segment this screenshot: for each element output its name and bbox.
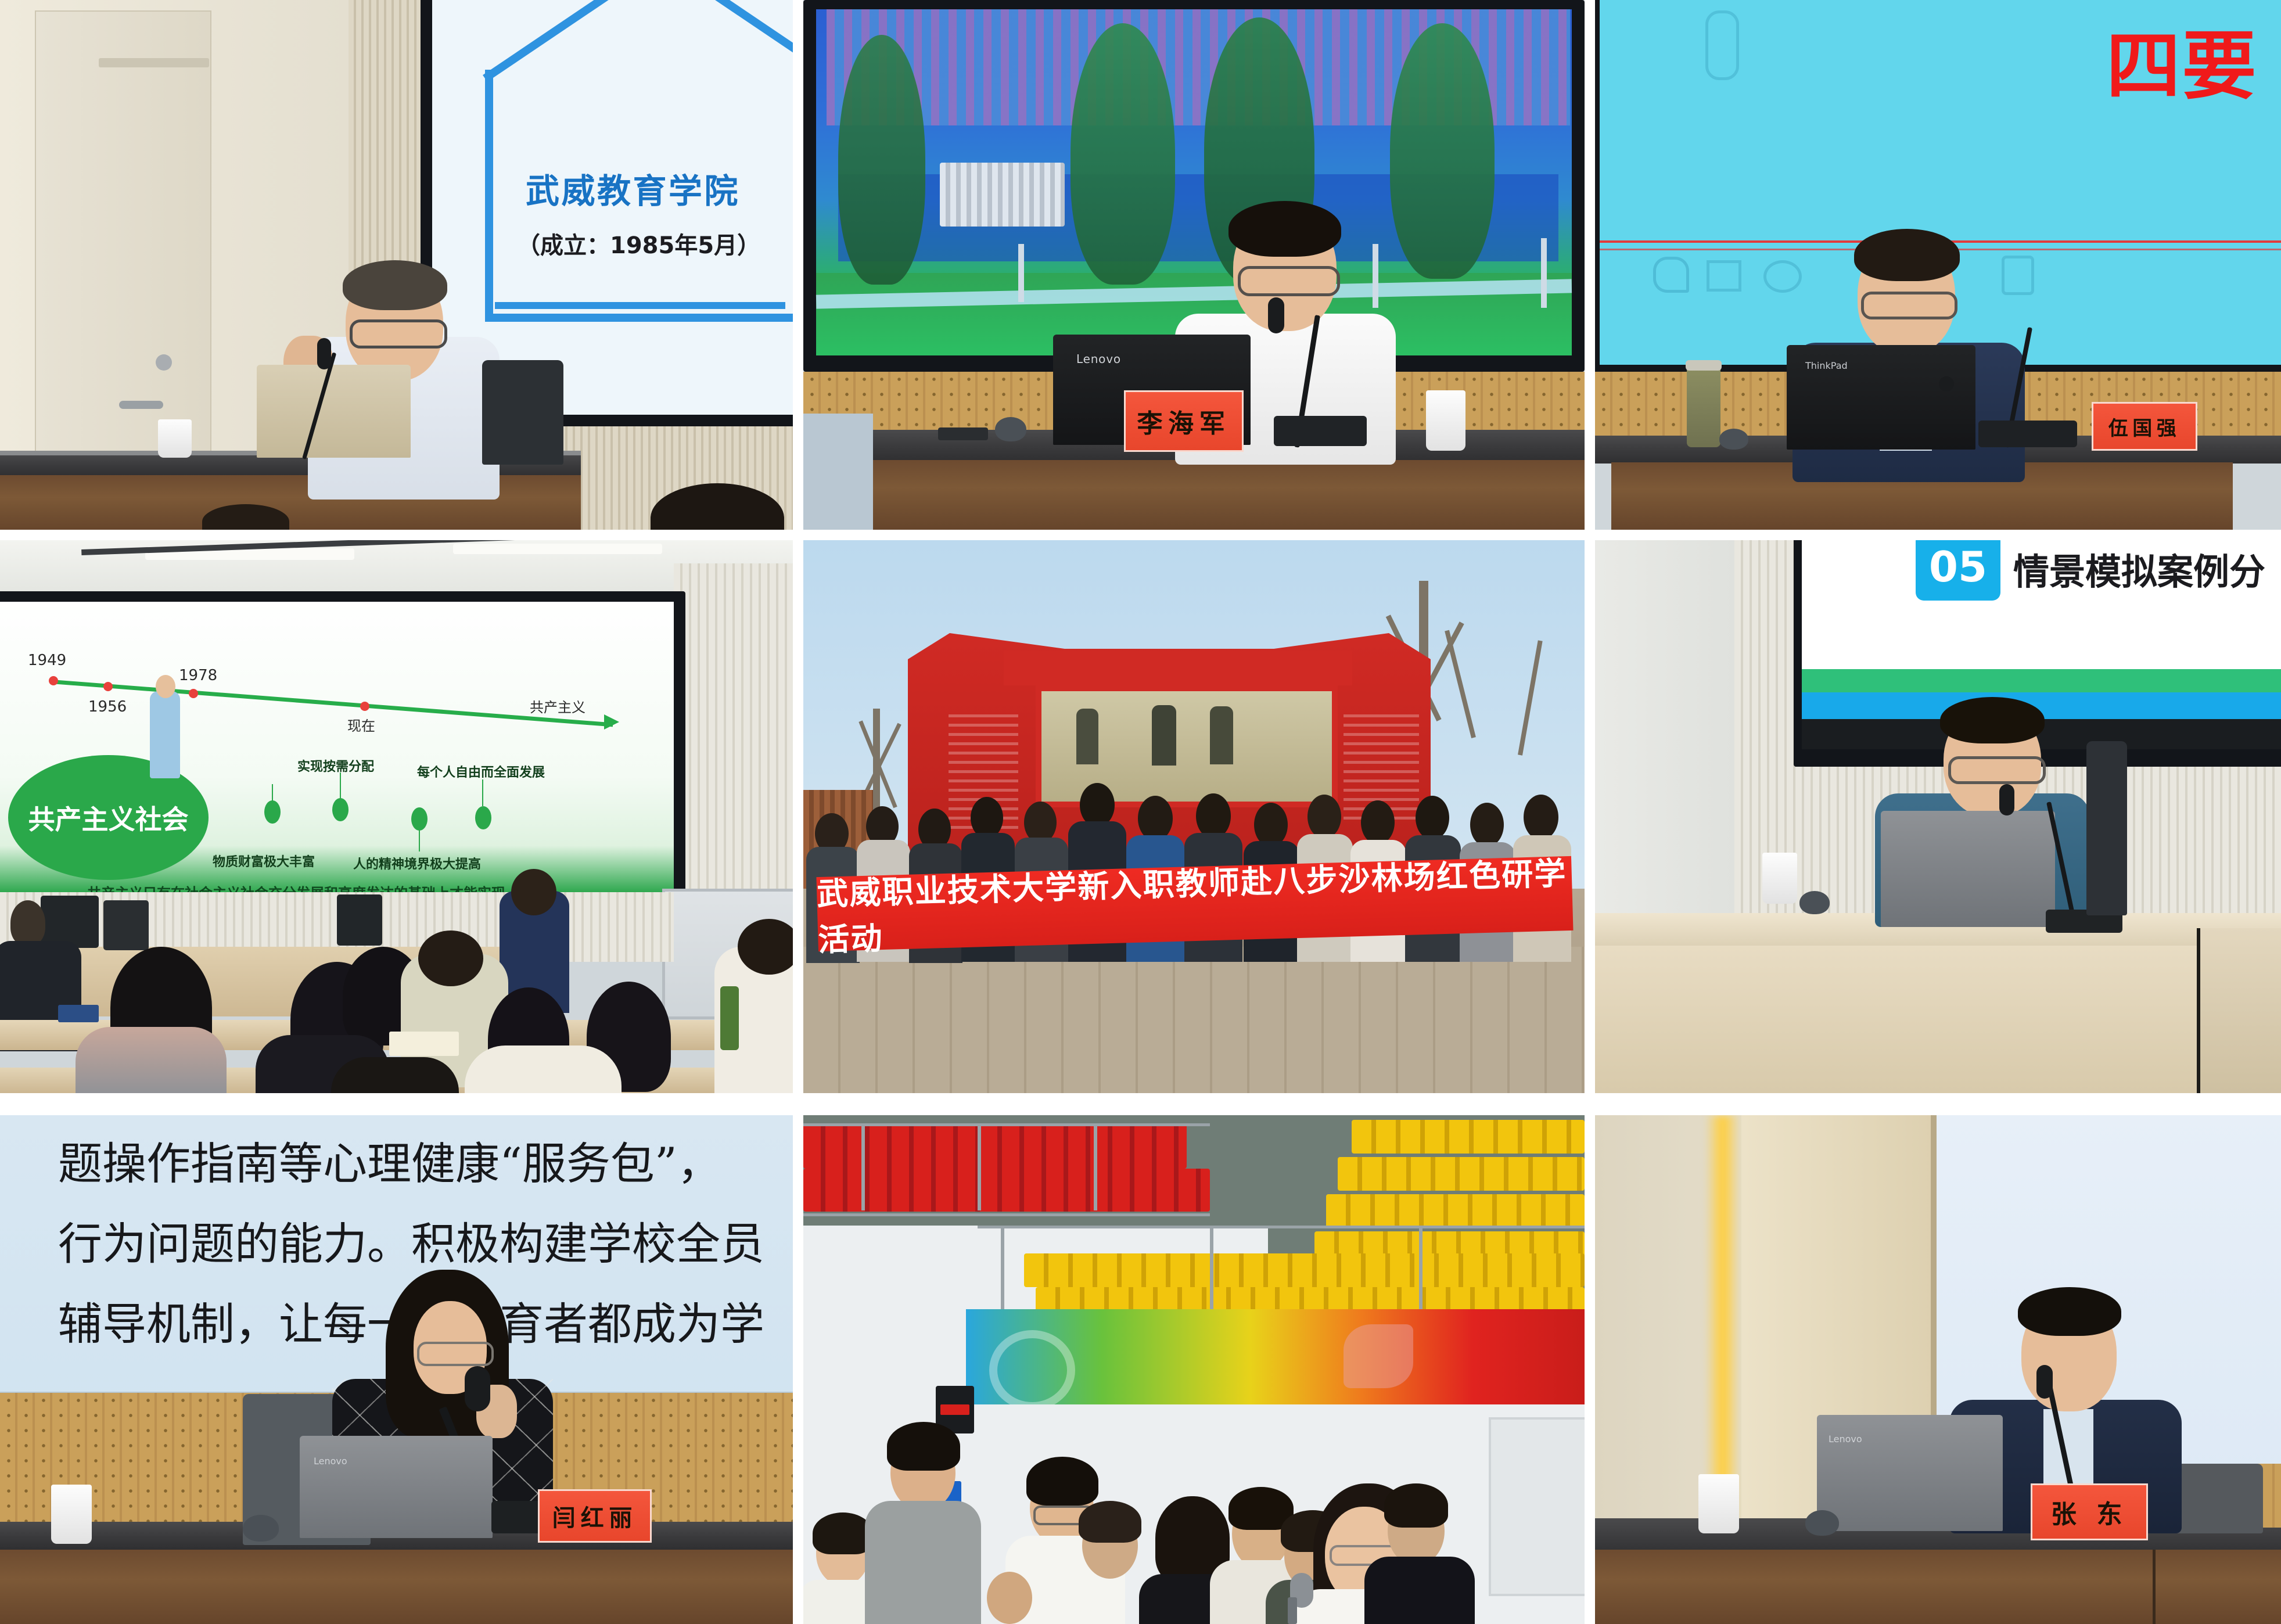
slide-title: 情景模拟案例分 [2013,542,2265,595]
slide-subtitle: （成立：1985年5月） [517,227,760,260]
paper-cup [51,1485,92,1544]
chair [482,360,563,465]
paper-cup [1698,1474,1739,1533]
audience-body [465,1045,622,1093]
notebook [389,1032,459,1056]
rail-post [978,1123,981,1210]
conference-desk-front [0,1550,793,1624]
slide-doodle-1 [1653,257,1689,293]
conference-desk-front [873,460,1585,530]
panel-7-scene: 题操作指南等心理健康“服务包”， 行为问题的能力。积极构建学校全员 辅导机制，让… [0,1115,793,1624]
laptop-brand-label: Lenovo [1829,1433,1862,1445]
bullet-label-3: 物质财富极大丰富 [213,851,315,870]
speaker-glasses [417,1342,494,1366]
person-hair [887,1422,960,1471]
presenter-body [150,691,180,778]
laptop [300,1436,493,1538]
collage-cell-middle-center[interactable]: 武威职业技术大学新入职教师赴八步沙林场红色研学活动 [803,540,1585,1093]
nameplate: 伍国强 [2092,402,2197,451]
microphone-base [1274,416,1367,446]
monument-frame [1004,651,1352,685]
mural-figure-2 [1152,705,1176,766]
led-stone-relief [940,163,1065,227]
person-head [1307,795,1341,839]
audience-head [418,930,483,986]
mouse [1805,1510,1839,1536]
house-base-line [495,302,785,309]
conference-desk-front [1595,1550,2281,1624]
gym-door [1489,1417,1585,1596]
photo-collage: 武威教育学院 （成立：1985年5月） [0,0,2281,1624]
person-head [987,1572,1032,1624]
slide-title: 四要 [2106,6,2258,113]
yellow-seat-row [1326,1194,1585,1228]
slide-doodle-5 [1705,10,1739,80]
nameplate: 李海军 [1124,390,1244,452]
led-tree-1 [838,35,925,285]
phone-on-desk [938,427,988,440]
person-head [1524,795,1558,840]
timeline-label-now: 现在 [347,714,375,735]
lecture-desk-front [1595,946,2199,1093]
speaker-glasses [1948,756,2046,784]
desk-seam [2153,1550,2156,1624]
panel-5-scene: 武威职业技术大学新入职教师赴八步沙林场红色研学活动 [803,540,1585,1093]
timeline-dot-1949 [49,676,58,685]
laptop-brand-label: ThinkPad [1805,360,1848,371]
collage-cell-top-center[interactable]: Lenovo 李海军 [803,0,1585,530]
speaker-glasses [1238,266,1340,296]
led-trunk-3 [1541,238,1547,308]
timeline-dot-1956 [103,682,113,691]
speaker-hair [1854,229,1960,281]
mural-figure-1 [1076,709,1098,764]
dais-monitor-1 [41,896,99,948]
desk-side-strip [803,414,873,530]
nameplate: 张 东 [2031,1483,2148,1540]
presenter-head [156,675,175,698]
person-head [1080,783,1115,827]
microphone-head [317,338,331,369]
laptop-brand-label: Lenovo [314,1456,347,1467]
mouse [995,417,1026,441]
front-attendee-head [10,900,45,946]
event-banner: 武威职业技术大学新入职教师赴八步沙林场红色研学活动 [816,856,1573,951]
pavement-tiles [803,947,1585,1093]
warm-light-strip [1705,1115,1740,1522]
timeline-label-1978: 1978 [179,667,217,684]
paper-cup [158,419,192,458]
nameplate: 闫红丽 [538,1489,652,1543]
water-bottle [720,986,739,1050]
paper-cup [1426,390,1465,451]
standing-attendee-head [511,869,556,915]
speaker-hair [1940,697,2045,743]
bullet-stem-3 [419,826,420,851]
laptop [1817,1415,2003,1531]
dais-monitor-2 [103,900,149,950]
speaker-hair [2018,1287,2121,1336]
microphone-head [1268,297,1284,333]
mural-swirl-motif [989,1330,1075,1410]
collage-cell-middle-left[interactable]: 1949 1956 1978 现在 共产主义 共产主义社会 实现按需分配 每个人… [0,540,793,1093]
laptop-brand-label: Lenovo [1076,352,1121,366]
yellow-seat-row [1352,1120,1585,1154]
scoreboard-digits [940,1404,969,1415]
bullet-stem-2 [340,773,341,799]
person-hair [1384,1483,1448,1528]
rail-post [1419,1226,1423,1318]
audience-body [331,1057,459,1093]
bullet-stem-4 [482,779,483,806]
timeline-dot-now [360,702,369,711]
desk-seam [2197,928,2200,1093]
thermos-bottle [1687,365,1720,447]
slide-text-line-1: 题操作指南等心理健康“服务包”， [58,1128,721,1192]
lecture-desk-side [2199,928,2281,1093]
microphone-head [2036,1365,2053,1399]
rail-post [1001,1226,1004,1318]
timeline-label-1949: 1949 [28,652,66,669]
slide-text-line-2: 行为问题的能力。积极构建学校全员 [58,1208,764,1272]
bullet-label-1: 实现按需分配 [297,756,374,775]
bullet-blob-1 [264,800,281,824]
mouse [243,1515,279,1542]
audience-body [76,1027,227,1093]
ceiling-light-2 [453,544,662,554]
rail-post [1094,1123,1097,1210]
notebook [58,1005,99,1022]
led-trunk-1 [1018,244,1024,302]
microphone-head [1999,784,2014,815]
collage-cell-bottom-left[interactable]: 题操作指南等心理健康“服务包”， 行为问题的能力。积极构建学校全员 辅导机制，让… [0,1115,793,1624]
mural-figure-3 [1210,706,1233,764]
laptop [1881,811,2055,927]
door-top-vent [99,58,209,67]
yellow-seat-row [1338,1157,1585,1191]
bullet-stem-1 [272,784,273,803]
timeline-label-end: 共产主义 [530,696,585,716]
dais-monitor-3 [337,894,382,946]
handheld-microphone-body [1288,1597,1297,1624]
person-head [1361,800,1395,845]
collage-cell-top-left[interactable]: 武威教育学院 （成立：1985年5月） [0,0,793,530]
rail-post [861,1123,865,1210]
side-wall-right [674,563,793,889]
speaker-glasses [350,319,447,348]
collage-cell-top-right[interactable]: 四要 ThinkPad 伍国强 [1595,0,2281,530]
speaker-hair [1228,201,1341,257]
person-hair [1026,1457,1098,1506]
chair [2086,741,2127,915]
microphone-base [1978,421,2077,447]
slide-green-bar [1802,669,2281,692]
door-handle [119,401,163,409]
collage-cell-middle-right[interactable]: 05 情景模拟案例分 [1595,540,2281,1093]
timeline-arrowhead [604,714,619,730]
person-body [1364,1557,1475,1624]
mouse [1719,429,1748,450]
bullet-blob-2 [332,798,349,821]
speaker-glasses [1861,292,1957,319]
bullet-label-4: 人的精神境界极大提高 [353,854,481,872]
person-head [1254,803,1288,847]
person-hair [813,1512,873,1554]
timeline-label-1956: 1956 [88,698,127,716]
person-hair [1079,1501,1141,1543]
panel-2-scene: Lenovo 李海军 [803,0,1585,530]
slide-doodle-2 [1707,260,1741,292]
microphone-head [1939,376,1954,391]
slide-title: 武威教育学院 [526,164,740,213]
person-body [865,1501,981,1624]
speaker-hair [343,260,447,310]
person-head [1138,796,1173,841]
slide-section-badge: 05 [1916,540,2000,601]
paper-cup [1762,853,1797,904]
person-head [1416,796,1449,840]
panel-4-scene: 1949 1956 1978 现在 共产主义 共产主义社会 实现按需分配 每个人… [0,540,793,1093]
timeline-dot-1978 [189,689,198,698]
panel-6-scene: 05 情景模拟案例分 [1595,540,2281,1093]
mural-horse-motif [1344,1324,1413,1388]
mouse [1799,891,1830,914]
panel-9-scene: Lenovo 张 东 [1595,1115,2281,1624]
collage-cell-bottom-center[interactable] [803,1115,1585,1624]
panel-3-scene: 四要 ThinkPad 伍国强 [1595,0,2281,530]
rail-post [1210,1226,1213,1318]
door-lock [156,354,172,371]
person-head [1470,803,1504,847]
thermos-cap [1686,360,1722,371]
person-head [1196,793,1231,839]
collage-cell-bottom-right[interactable]: Lenovo 张 东 [1595,1115,2281,1624]
bullet-blob-4 [475,806,491,829]
panel-8-scene [803,1115,1585,1624]
handheld-microphone-head [465,1366,490,1411]
bullet-label-2: 每个人自由而全面发展 [417,762,545,781]
laptop [257,365,411,458]
panel-1-scene: 武威教育学院 （成立：1985年5月） [0,0,793,530]
